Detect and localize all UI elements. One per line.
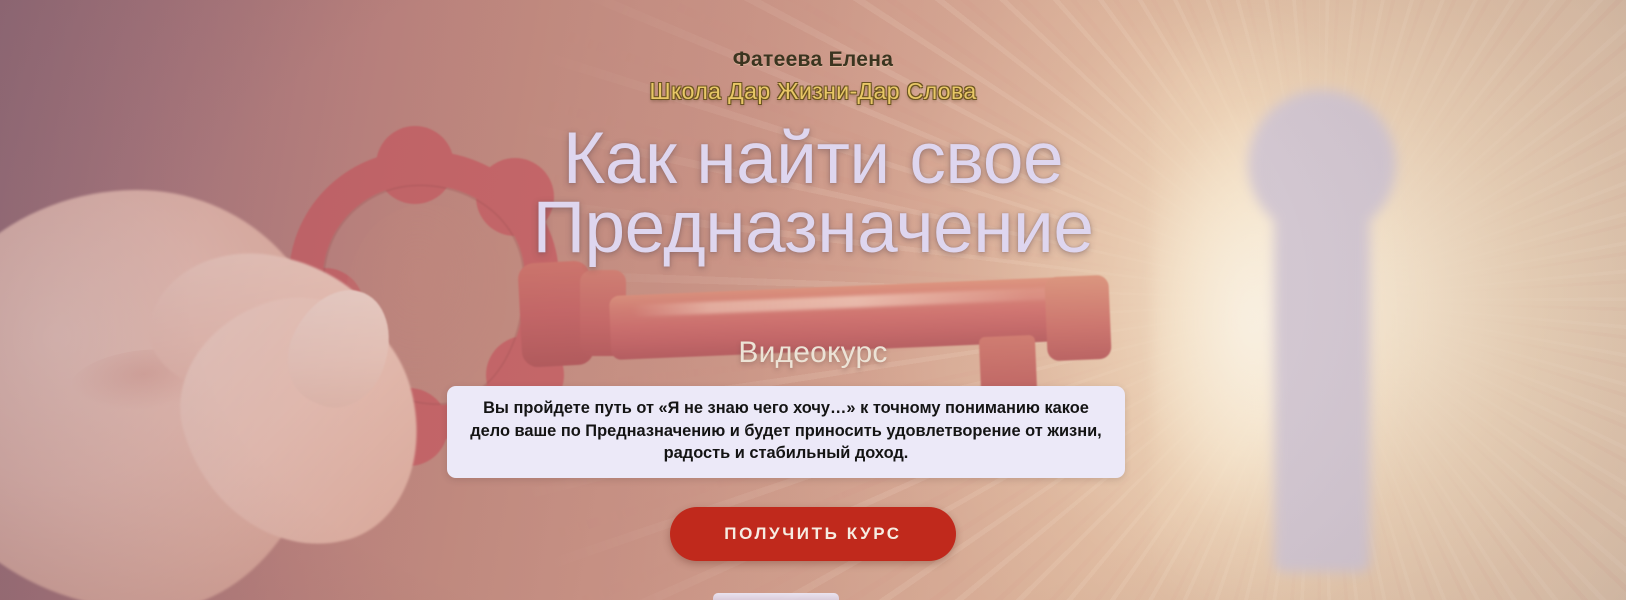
next-section-sliver: [713, 593, 839, 600]
page-title-line-2: Предназначение: [0, 194, 1626, 263]
brand-name: Фатеева Елена: [0, 48, 1626, 72]
cta-row: ПОЛУЧИТЬ КУРС: [0, 507, 1626, 561]
hero-content: Фатеева Елена Школа Дар Жизни-Дар Слова …: [0, 0, 1626, 600]
page-title: Как найти свое Предназначение: [0, 125, 1626, 262]
school-name: Школа Дар Жизни-Дар Слова: [0, 78, 1626, 105]
get-course-button[interactable]: ПОЛУЧИТЬ КУРС: [670, 507, 955, 561]
hero-section: Фатеева Елена Школа Дар Жизни-Дар Слова …: [0, 0, 1626, 600]
course-format-label: Видеокурс: [0, 336, 1626, 370]
promo-description-box: Вы пройдете путь от «Я не знаю чего хочу…: [447, 386, 1125, 478]
